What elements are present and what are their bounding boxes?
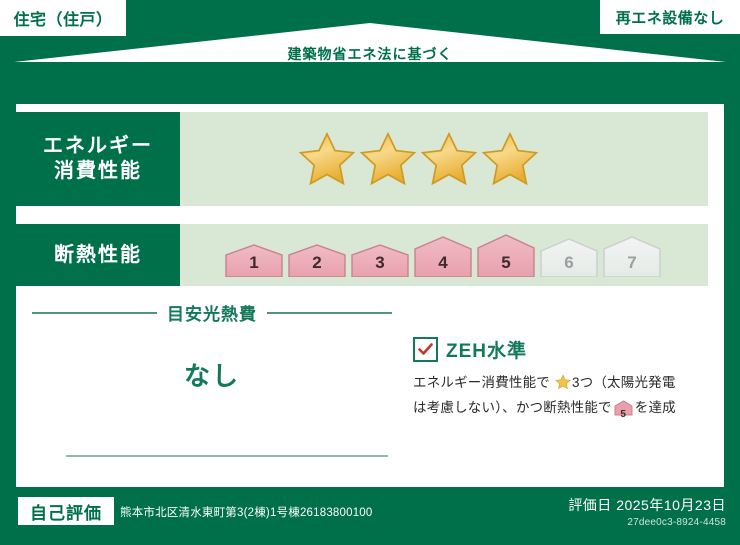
evaluation-date: 評価日 2025年10月23日 — [568, 495, 726, 515]
insulation-performance-row: 断熱性能 1234567 — [16, 224, 708, 286]
insulation-level-scale: 1234567 — [224, 233, 662, 277]
energy-label-line2: 消費性能 — [54, 159, 142, 184]
insulation-level-number: 3 — [350, 253, 410, 273]
insulation-level-number: 5 — [476, 253, 536, 273]
insulation-level-2: 2 — [287, 243, 347, 277]
insulation-level-6: 6 — [539, 237, 599, 277]
insulation-label-text: 断熱性能 — [54, 243, 142, 268]
renewable-equipment-tag: 再エネ設備なし — [600, 0, 740, 34]
star-icon-filled — [359, 130, 417, 188]
insulation-level-5: 5 — [476, 233, 536, 277]
zeh-block: ZEH水準 エネルギー消費性能で 3つ（太陽光発電 は考慮しない）、かつ断熱性能… — [413, 336, 713, 422]
utility-cost-value: なし — [32, 356, 392, 393]
heading-rule-right — [267, 312, 392, 314]
insulation-performance-label: 断熱性能 — [16, 224, 180, 286]
energy-performance-label: エネルギー 消費性能 — [16, 112, 180, 206]
star-icon-filled — [298, 130, 356, 188]
insulation-level-3: 3 — [350, 243, 410, 277]
insulation-level-number: 4 — [413, 253, 473, 273]
building-type-tag: 住宅（住戸） — [0, 0, 126, 36]
check-icon — [413, 337, 438, 362]
energy-performance-body — [180, 112, 708, 206]
energy-performance-label: 住宅（住戸） 再エネ設備なし 建築物省エネ法に基づく 省エネ性能ラベル エネルギ… — [0, 0, 740, 545]
zeh-desc-part1: エネルギー消費性能で — [413, 375, 550, 390]
zeh-description: エネルギー消費性能で 3つ（太陽光発電 は考慮しない）、かつ断熱性能で 5を達成 — [413, 372, 713, 422]
insulation-level-1: 1 — [224, 243, 284, 277]
energy-label-line1: エネルギー — [43, 134, 153, 159]
zeh-desc-part3: を達成 — [635, 400, 676, 415]
insulation-level-number: 1 — [224, 253, 284, 273]
utility-cost-heading-text: 目安光熱費 — [167, 300, 257, 325]
zeh-heading: ZEH水準 — [413, 336, 713, 363]
utility-cost-heading: 目安光熱費 — [32, 300, 392, 325]
zeh-title: ZEH水準 — [446, 336, 527, 363]
star-rating — [298, 130, 539, 188]
label-title: 省エネ性能ラベル — [0, 66, 740, 105]
self-evaluation-badge: 自己評価 — [18, 497, 114, 525]
house-badge-icon: 5 — [614, 400, 633, 423]
energy-performance-row: エネルギー 消費性能 — [16, 112, 708, 206]
label-card: エネルギー 消費性能 断熱性能 1234567 目安光熱費 なし — [16, 104, 724, 487]
insulation-level-number: 2 — [287, 253, 347, 273]
zeh-desc-part2: は考慮しない）、かつ断熱性能で — [413, 400, 612, 415]
insulation-level-number: 6 — [539, 253, 599, 273]
insulation-level-7: 7 — [602, 235, 662, 277]
star-icon-filled — [481, 130, 539, 188]
document-id: 27dee0c3-8924-4458 — [627, 517, 726, 528]
zeh-desc-star-count: 3つ（太陽光発電 — [572, 375, 676, 390]
house-badge-number: 5 — [614, 408, 633, 422]
insulation-level-number: 7 — [602, 253, 662, 273]
utility-cost-divider — [66, 455, 388, 457]
footer-bar: 自己評価 熊本市北区清水東町第3(2棟)1号棟26183800100 評価日 2… — [0, 487, 740, 545]
heading-rule-left — [32, 312, 157, 314]
title-block: 建築物省エネ法に基づく 省エネ性能ラベル — [0, 44, 740, 105]
insulation-level-4: 4 — [413, 235, 473, 277]
label-subtitle: 建築物省エネ法に基づく — [0, 44, 740, 64]
star-icon — [551, 378, 571, 393]
property-address: 熊本市北区清水東町第3(2棟)1号棟26183800100 — [120, 504, 373, 520]
star-icon-filled — [420, 130, 478, 188]
insulation-performance-body: 1234567 — [180, 224, 708, 286]
